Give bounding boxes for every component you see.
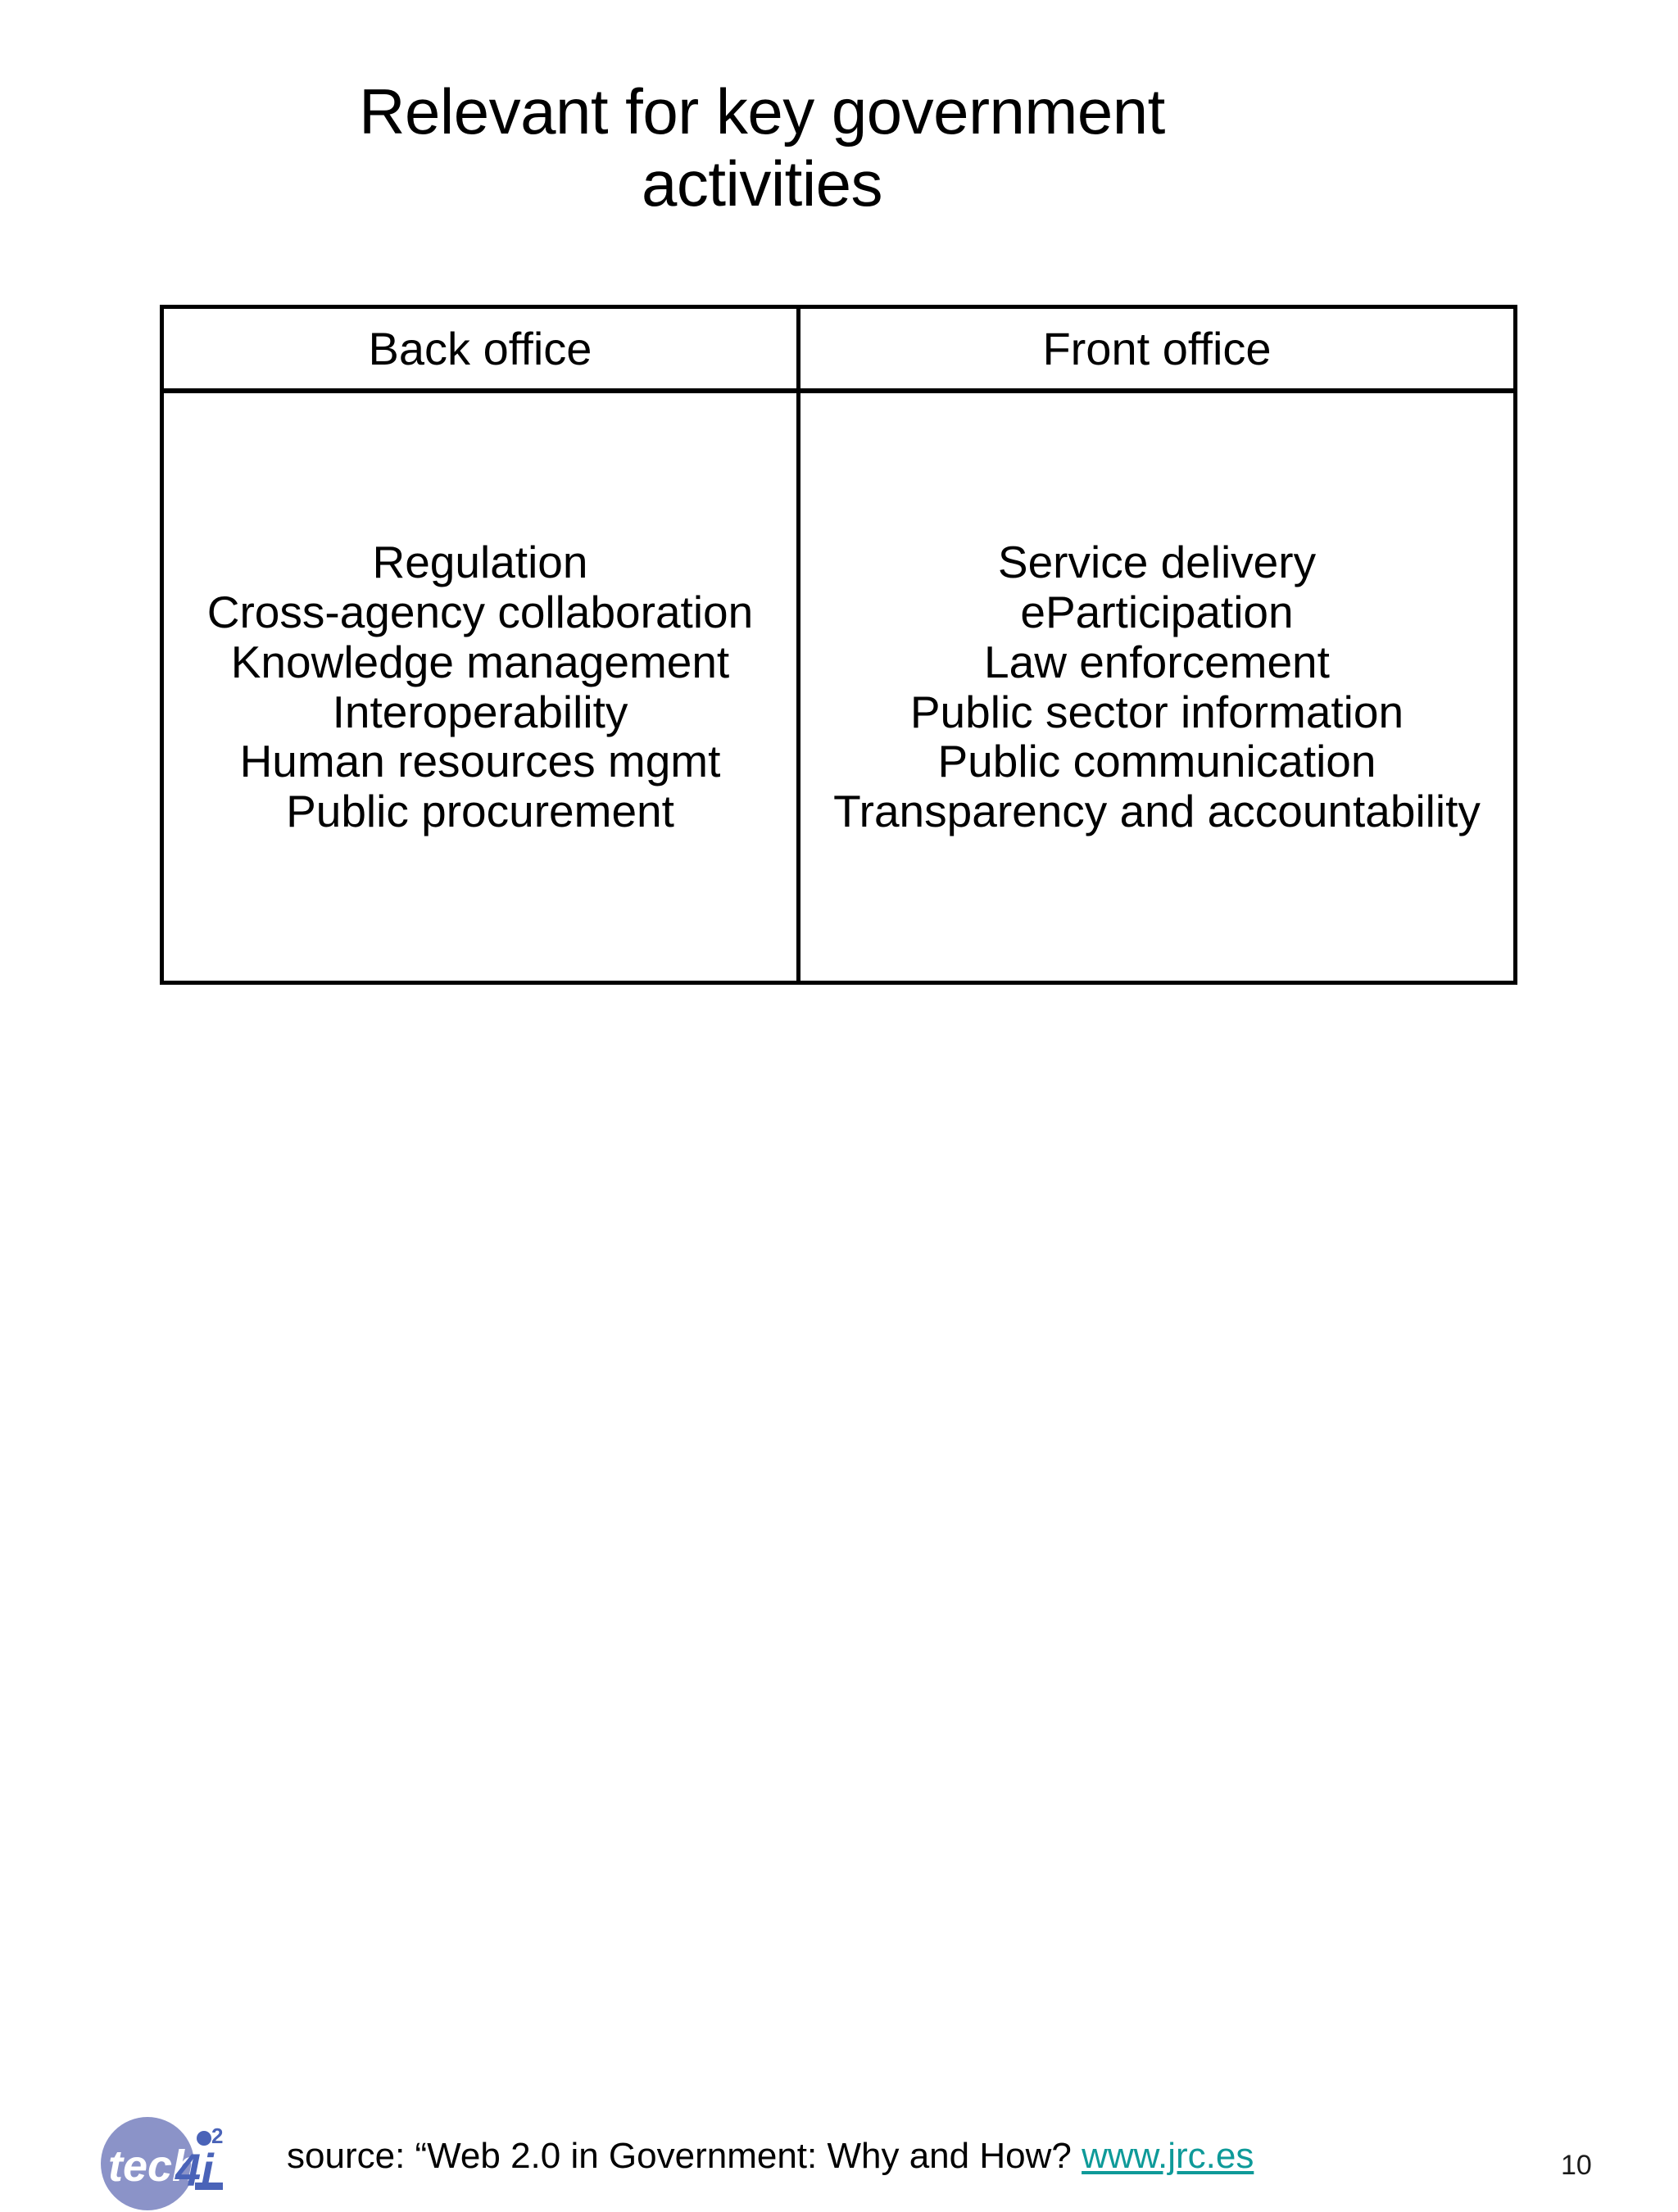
back-office-header-label: Back office [369,326,592,372]
list-item: Knowledge management [207,637,753,687]
list-item: Regulation [207,537,753,587]
source-link[interactable]: www.jrc.es [1082,2136,1254,2176]
back-office-list: Regulation Cross-agency collaboration Kn… [207,537,753,836]
list-item: Public communication [833,737,1481,786]
source-text: source: “Web 2.0 in Government: Why and … [287,2136,1072,2176]
list-item: Service delivery [833,537,1481,587]
list-item: Law enforcement [833,637,1481,687]
svg-text:2: 2 [211,2124,223,2148]
page-title: Relevant for key government activities [147,75,1376,220]
table-cell-back-office: Regulation Cross-agency collaboration Kn… [164,393,800,981]
table-header-cell-front-office: Front office [800,309,1513,388]
page-number: 10 [1561,2151,1592,2179]
slide-footer: tech 4i 2 source: “Web 2.0 in Government… [0,1055,1678,1162]
table-header-cell-back-office: Back office [164,309,800,388]
table-body-row: Regulation Cross-agency collaboration Kn… [164,393,1513,981]
page-title-line-2: activities [147,147,1376,220]
list-item: Public sector information [833,687,1481,737]
list-item: eParticipation [833,587,1481,637]
list-item: Public procurement [207,786,753,836]
list-item: Interoperability [207,687,753,737]
list-item: Transparency and accountability [833,786,1481,836]
table-cell-front-office: Service delivery eParticipation Law enfo… [800,393,1513,981]
front-office-header-label: Front office [1042,326,1271,372]
list-item: Human resources mgmt [207,737,753,786]
list-item: Cross-agency collaboration [207,587,753,637]
government-activities-table: Back office Front office Regulation Cros… [160,305,1517,985]
table-header-row: Back office Front office [164,309,1513,393]
page-title-line-1: Relevant for key government [147,75,1376,147]
tech4i2-logo-icon: tech 4i 2 [97,2115,232,2212]
front-office-list: Service delivery eParticipation Law enfo… [833,537,1481,836]
source-attribution: source: “Web 2.0 in Government: Why and … [287,2137,1254,2176]
